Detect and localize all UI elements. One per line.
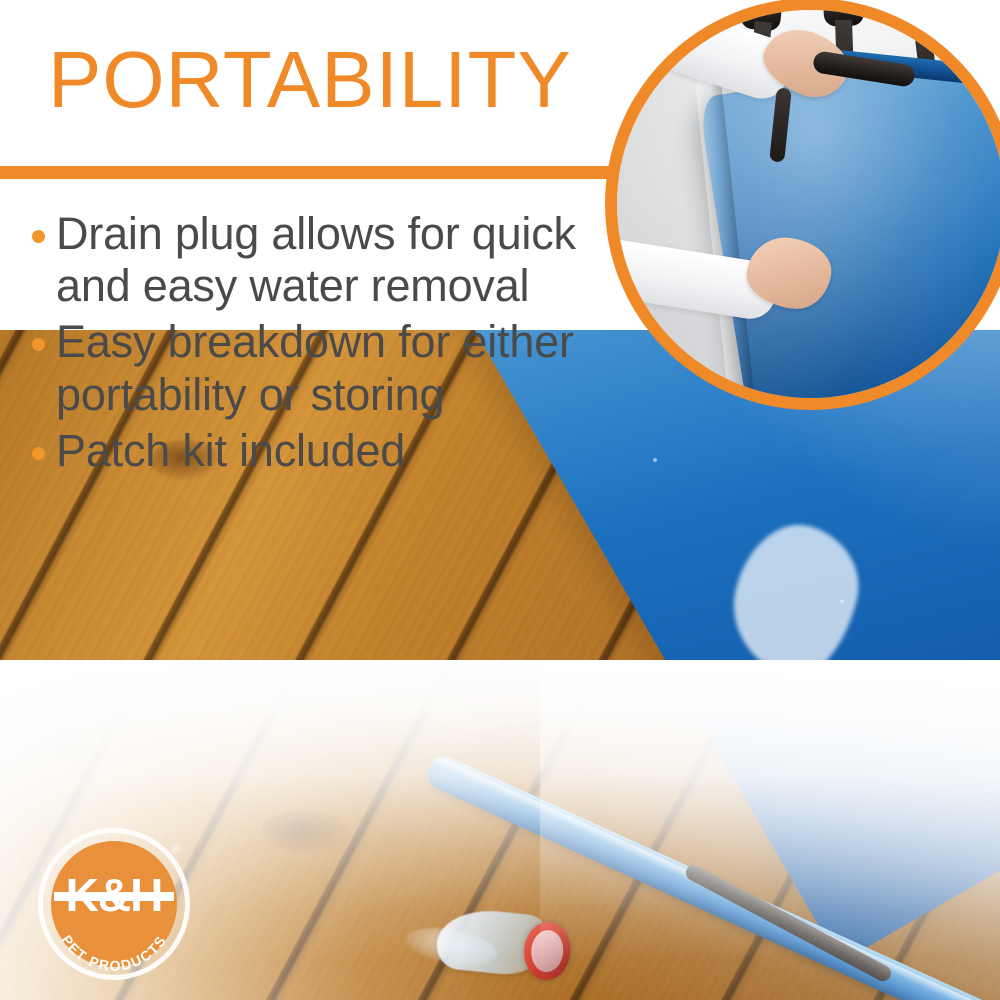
- bullet-dot-icon: [32, 338, 45, 351]
- wood-knot: [40, 730, 100, 764]
- list-item: Patch kit included: [32, 425, 612, 477]
- feature-text: Drain plug allows for quick and easy wat…: [56, 208, 612, 312]
- feature-text: Easy breakdown for either portability or…: [56, 316, 612, 420]
- product-feature-poster: PORTABILITY Drain plug allows for quick …: [0, 0, 1000, 1000]
- wood-knot: [262, 810, 348, 854]
- feature-text: Patch kit included: [56, 425, 405, 477]
- drain-plug-opening: [530, 929, 565, 973]
- feature-list: Drain plug allows for quick and easy wat…: [32, 208, 612, 481]
- list-item: Easy breakdown for either portability or…: [32, 316, 612, 420]
- brand-logo: K&H ® PET PRODUCTS: [38, 828, 190, 980]
- wood-knot: [430, 660, 484, 692]
- bullet-dot-icon: [32, 230, 45, 243]
- page-title: PORTABILITY: [48, 40, 572, 120]
- bullet-dot-icon: [32, 447, 45, 460]
- title-divider: [0, 166, 620, 179]
- inset-photo-breakdown: [605, 0, 1000, 410]
- logo-tagline-arc: PET PRODUCTS: [38, 828, 190, 980]
- list-item: Drain plug allows for quick and easy wat…: [32, 208, 612, 312]
- logo-tagline-text: PET PRODUCTS: [58, 932, 169, 974]
